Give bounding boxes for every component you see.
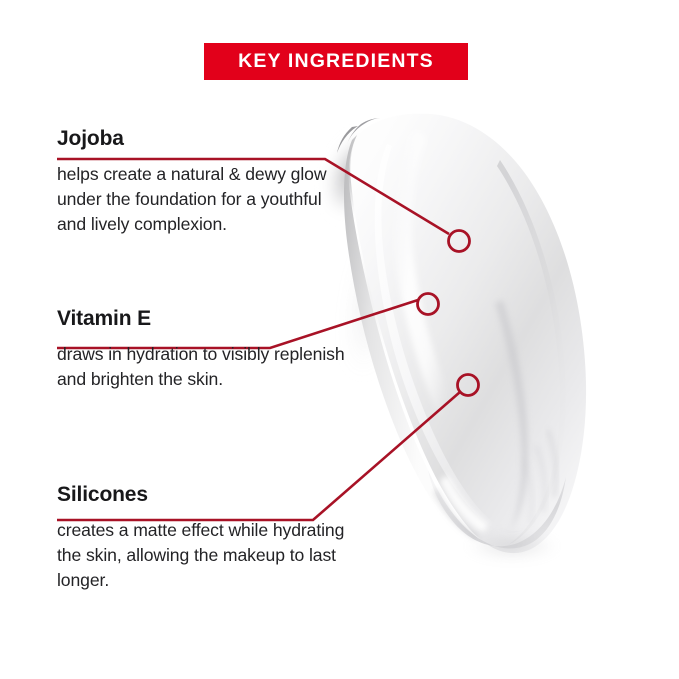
ingredient-title-silicones: Silicones (57, 484, 347, 506)
title-underline-spacer-vitamin-e (57, 330, 347, 342)
circle-marker-jojoba (449, 231, 470, 252)
ingredient-title-jojoba: Jojoba (57, 128, 347, 150)
ingredient-title-vitamin-e: Vitamin E (57, 308, 347, 330)
ingredient-block-silicones: Silicones creates a matte effect while h… (57, 484, 347, 594)
circle-marker-silicones (458, 375, 479, 396)
ingredient-block-jojoba: Jojoba helps create a natural & dewy glo… (57, 128, 347, 238)
key-ingredients-infographic: KEY INGREDIENTS Jojoba helps create a na… (0, 0, 679, 679)
banner-label: KEY INGREDIENTS (238, 52, 434, 72)
title-underline-spacer-silicones (57, 506, 347, 518)
circle-marker-vitamin-e (418, 294, 439, 315)
ingredient-description-silicones: creates a matte effect while hydrating t… (57, 518, 347, 594)
ingredient-block-vitamin-e: Vitamin E draws in hydration to visibly … (57, 308, 347, 392)
title-underline-spacer-jojoba (57, 150, 347, 162)
ingredient-description-jojoba: helps create a natural & dewy glow under… (57, 162, 347, 238)
ingredient-description-vitamin-e: draws in hydration to visibly replenish … (57, 342, 347, 392)
key-ingredients-banner: KEY INGREDIENTS (204, 43, 468, 80)
